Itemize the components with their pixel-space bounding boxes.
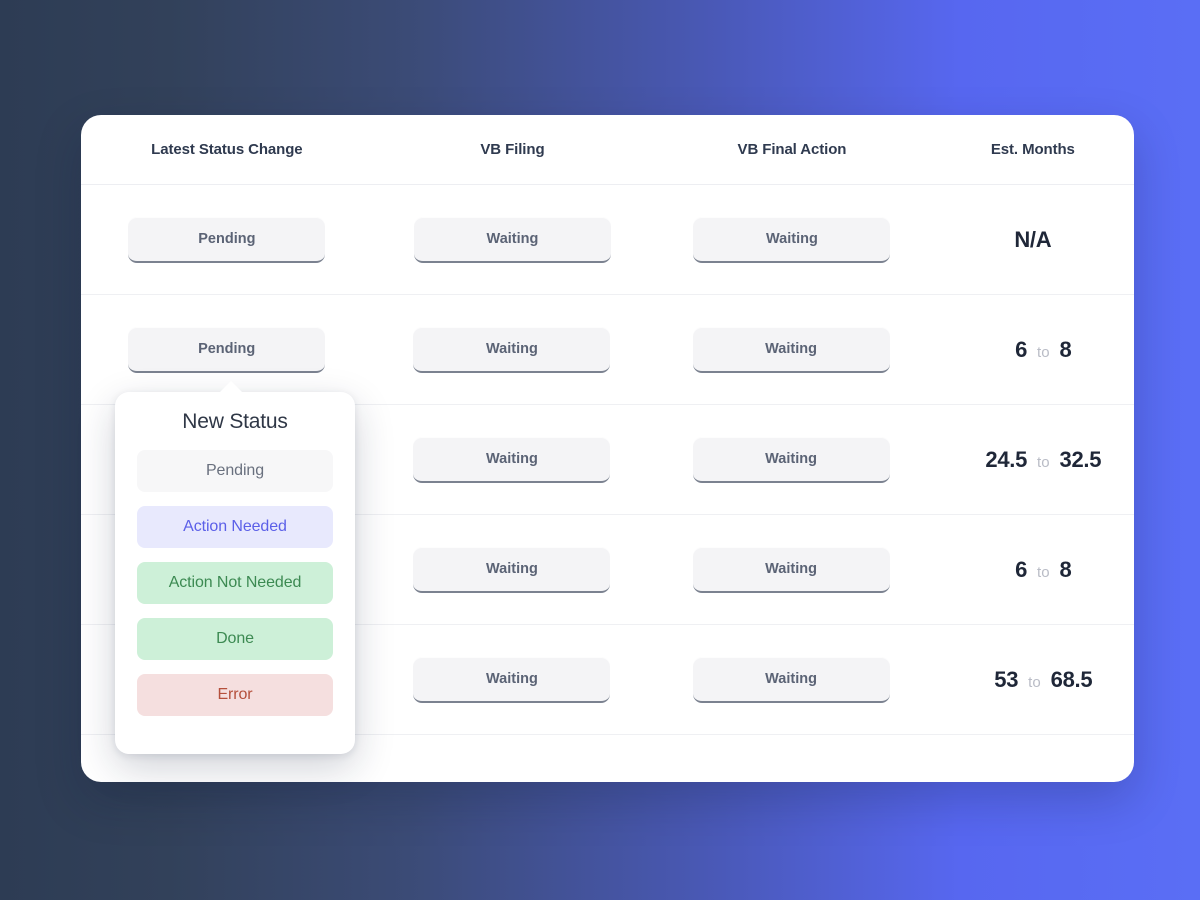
cell-vb-filing: Waiting [372, 625, 651, 734]
table-row: Pending Waiting Waiting 6 to 8 [81, 295, 1134, 405]
status-pill-vb-filing[interactable]: Waiting [413, 327, 610, 373]
cell-est-months: 24.5 to 32.5 [931, 447, 1134, 473]
est-months-min: 6 [1015, 557, 1027, 583]
est-months-max: 68.5 [1051, 667, 1093, 693]
status-pill-vb-filing[interactable]: Waiting [413, 437, 610, 483]
cell-vb-filing: Waiting [373, 185, 652, 294]
cell-vb-filing: Waiting [372, 405, 651, 514]
est-months-min: 24.5 [985, 447, 1027, 473]
status-option-action-not-needed[interactable]: Action Not Needed [137, 562, 333, 604]
cell-latest-status-change: Pending [81, 185, 373, 294]
est-months-max: 32.5 [1060, 447, 1102, 473]
cell-vb-final-action: Waiting [651, 625, 930, 734]
cell-vb-final-action: Waiting [651, 515, 930, 624]
est-months-separator: to [1037, 344, 1050, 361]
est-months-max: 8 [1060, 557, 1072, 583]
column-header-latest-status-change: Latest Status Change [81, 141, 373, 158]
cell-vb-filing: Waiting [372, 515, 651, 624]
status-pill-vb-final-action[interactable]: Waiting [693, 547, 890, 593]
table-row: Pending Waiting Waiting N/A [81, 185, 1134, 295]
status-pill-vb-filing[interactable]: Waiting [413, 547, 610, 593]
cell-est-months: N/A [932, 227, 1134, 253]
est-months-min: 53 [994, 667, 1018, 693]
status-pill-latest-status-change[interactable]: Pending [128, 327, 325, 373]
cell-est-months: 6 to 8 [931, 337, 1134, 363]
est-months-separator: to [1028, 674, 1041, 691]
est-months-max: 8 [1060, 337, 1072, 363]
est-months-min: 6 [1015, 337, 1027, 363]
status-pill-vb-final-action[interactable]: Waiting [693, 657, 890, 703]
status-pill-latest-status-change[interactable]: Pending [128, 217, 325, 263]
status-option-done[interactable]: Done [137, 618, 333, 660]
status-pill-vb-final-action[interactable]: Waiting [693, 437, 890, 483]
table-header-row: Latest Status Change VB Filing VB Final … [81, 115, 1134, 185]
status-pill-vb-filing[interactable]: Waiting [413, 657, 610, 703]
cell-vb-final-action: Waiting [651, 295, 930, 404]
cell-vb-filing: Waiting [372, 295, 651, 404]
est-months-separator: to [1037, 454, 1050, 471]
column-header-est-months: Est. Months [932, 141, 1134, 158]
new-status-dropdown: New Status Pending Action Needed Action … [115, 392, 355, 754]
cell-vb-final-action: Waiting [652, 185, 931, 294]
status-pill-vb-final-action[interactable]: Waiting [693, 217, 890, 263]
est-months-value: N/A [1014, 227, 1051, 253]
status-pill-vb-final-action[interactable]: Waiting [693, 327, 890, 373]
status-pill-vb-filing[interactable]: Waiting [414, 217, 611, 263]
column-header-vb-filing: VB Filing [373, 141, 652, 158]
dropdown-title: New Status [137, 410, 333, 434]
status-option-pending[interactable]: Pending [137, 450, 333, 492]
est-months-separator: to [1037, 564, 1050, 581]
status-option-error[interactable]: Error [137, 674, 333, 716]
cell-vb-final-action: Waiting [651, 405, 930, 514]
status-option-action-needed[interactable]: Action Needed [137, 506, 333, 548]
cell-est-months: 6 to 8 [931, 557, 1134, 583]
column-header-vb-final-action: VB Final Action [652, 141, 931, 158]
cell-est-months: 53 to 68.5 [931, 667, 1134, 693]
